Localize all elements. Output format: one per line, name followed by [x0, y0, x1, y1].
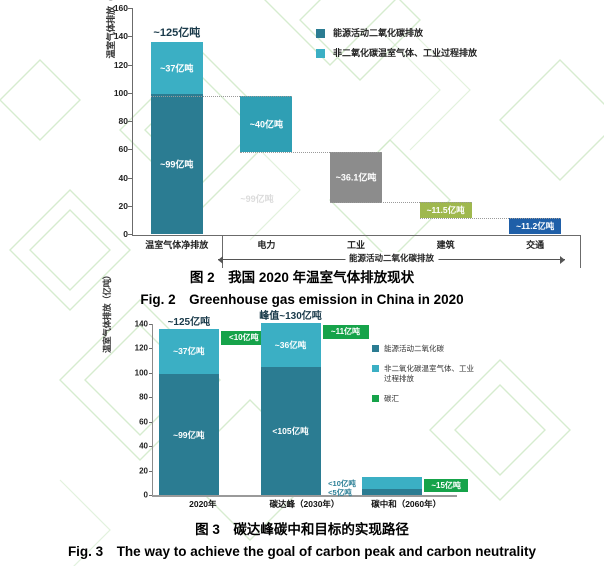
fig2-bracket-left-arrow-icon: [218, 256, 223, 264]
fig2-y-tickmark-100: [128, 93, 132, 94]
fig3-bar-value-label: <105亿吨: [261, 425, 321, 437]
fig3-bar-碳中和（2060年）-非二氧化碳温室气体、工业过程排放: [362, 477, 422, 489]
fig3-y-tickmark-0: [149, 495, 152, 496]
fig2-bar-value-label: ~11.2亿吨: [509, 220, 561, 232]
fig2-y-tick-100: 100: [114, 88, 128, 98]
fig3-y-tick-120: 120: [135, 344, 148, 353]
fig3-side-label: <5亿吨: [328, 487, 352, 498]
fig2-bracket-label: 能源活动二氧化碳排放: [345, 252, 438, 264]
fig2-category-交通: 交通: [490, 238, 580, 251]
fig3-legend-item-2: 碳汇: [372, 394, 479, 404]
fig2-y-tick-80: 80: [119, 116, 128, 126]
fig2-legend-label: 非二氧化碳温室气体、工业过程排放: [333, 48, 477, 59]
fig3-legend-swatch-icon: [372, 365, 379, 372]
fig3-bar-value-label: ~99亿吨: [159, 429, 219, 441]
fig2-y-tickmark-120: [128, 65, 132, 66]
fig2-connector-2: [330, 202, 472, 203]
fig3-y-tick-40: 40: [139, 442, 148, 451]
fig3-y-tick-80: 80: [139, 393, 148, 402]
fig2-y-tick-20: 20: [119, 201, 128, 211]
fig3-bar-value-label: ~36亿吨: [261, 339, 321, 351]
fig2-bracket-right-arrow-icon: [560, 256, 565, 264]
fig2-category-工业: 工业: [311, 238, 401, 251]
fig3-y-tickmark-100: [149, 373, 152, 374]
fig3-bar-value-label: ~37亿吨: [159, 345, 219, 357]
fig3-y-tick-0: 0: [144, 491, 148, 500]
figure-3-carbon-peak-neutrality-path: 温室气体排放（亿吨） 020406080100120140~99亿吨~37亿吨~…: [0, 312, 604, 512]
fig3-legend-label: 能源活动二氧化碳: [384, 344, 444, 354]
fig3-category-axis: 2020年碳达峰（2030年）碳中和（2060年）: [152, 498, 457, 514]
fig2-connector-0: [151, 96, 293, 97]
fig2-caption-cn: 图 2 我国 2020 年温室气体排放现状: [0, 266, 604, 286]
fig2-bar-value-label: ~99亿吨: [151, 158, 203, 171]
fig2-connector-1: [240, 152, 382, 153]
fig2-bar-工业-工业: ~36.1亿吨: [330, 152, 382, 203]
fig3-y-tickmark-120: [149, 348, 152, 349]
fig3-legend-label: 碳汇: [384, 394, 399, 404]
fig3-bar-碳达峰（2030年）-非二氧化碳温室气体、工业过程排放: ~36亿吨: [261, 323, 321, 367]
fig3-legend-swatch-icon: [372, 345, 379, 352]
fig3-bar-2020年-能源活动二氧化碳: ~99亿吨: [159, 374, 219, 495]
fig3-category-碳达峰（2030年）: 碳达峰（2030年）: [254, 498, 356, 510]
fig3-bar-2020年-非二氧化碳温室气体、工业过程排放: ~37亿吨: [159, 329, 219, 374]
fig3-caption-cn: 图 3 碳达峰碳中和目标的实现路径: [0, 518, 604, 538]
fig2-category-温室气体净排放: 温室气体净排放: [132, 238, 222, 251]
fig3-bar-碳达峰（2030年）-能源活动二氧化碳: <105亿吨: [261, 367, 321, 495]
fig2-bar-value-label: ~36.1亿吨: [330, 171, 382, 184]
fig2-bar-交通-交通: ~11.2亿吨: [509, 218, 561, 234]
fig3-legend-item-1: 非二氧化碳温室气体、工业过程排放: [372, 364, 479, 384]
fig3-y-tick-100: 100: [135, 368, 148, 377]
fig3-y-tickmark-60: [149, 422, 152, 423]
fig2-y-tick-40: 40: [119, 173, 128, 183]
fig2-bar-value-label: ~11.5亿吨: [420, 204, 472, 216]
fig2-ghost-label: ~99亿吨: [240, 192, 273, 205]
fig3-legend-swatch-icon: [372, 395, 379, 402]
fig3-y-axis-label: 温室气体排放（亿吨）: [101, 264, 115, 360]
fig3-caption-en: Fig. 3 The way to achieve the goal of ca…: [0, 540, 604, 560]
fig2-bar-温室气体净排放-能源活动二氧化碳排放: ~99亿吨: [151, 94, 203, 234]
fig2-connector-3: [420, 218, 562, 219]
fig2-bar-value-label: ~37亿吨: [151, 62, 203, 75]
fig3-carbon-sink-chip: ~11亿吨: [323, 325, 369, 339]
fig2-category-建筑: 建筑: [401, 238, 491, 251]
fig2-legend-swatch-icon: [316, 29, 325, 38]
figure-2-greenhouse-gas-emission: 温室气体排放（亿吨） 020406080100120140160~99亿吨~37…: [0, 0, 604, 262]
fig2-y-tickmark-160: [128, 8, 132, 9]
fig3-y-tickmark-80: [149, 397, 152, 398]
fig2-bar-温室气体净排放-非二氧化碳温室气体、工业过程排放: ~37亿吨: [151, 42, 203, 94]
fig3-bar-total-label: 峰值~130亿吨: [231, 307, 351, 322]
fig3-y-tickmark-40: [149, 446, 152, 447]
fig2-legend-item-0: 能源活动二氧化碳排放: [316, 28, 477, 39]
fig3-legend-label: 非二氧化碳温室气体、工业过程排放: [384, 364, 479, 384]
fig3-legend-item-0: 能源活动二氧化碳: [372, 344, 479, 354]
fig2-legend-label: 能源活动二氧化碳排放: [333, 28, 423, 39]
fig2-y-tickmark-60: [128, 149, 132, 150]
fig2-legend-swatch-icon: [316, 49, 325, 58]
fig2-bar-电力-电力: ~40亿吨: [240, 96, 292, 153]
fig2-y-tickmark-20: [128, 206, 132, 207]
fig2-y-tickmark-80: [128, 121, 132, 122]
fig3-legend: 能源活动二氧化碳非二氧化碳温室气体、工业过程排放碳汇: [372, 344, 479, 414]
fig2-y-tickmark-40: [128, 178, 132, 179]
fig2-y-tick-120: 120: [114, 60, 128, 70]
fig2-bar-total-label: ~125亿吨: [117, 24, 237, 40]
fig2-bar-建筑-建筑: ~11.5亿吨: [420, 202, 472, 218]
fig2-y-tick-160: 160: [114, 3, 128, 13]
fig2-category-电力: 电力: [222, 238, 312, 251]
fig3-category-2020年: 2020年: [152, 498, 254, 510]
fig2-category-separator-end: [580, 236, 581, 268]
fig3-y-tick-60: 60: [139, 417, 148, 426]
fig2-y-tick-60: 60: [119, 144, 128, 154]
fig2-caption-en: Fig. 2 Greenhouse gas emission in China …: [0, 288, 604, 308]
fig3-y-tickmark-20: [149, 471, 152, 472]
fig3-category-碳中和（2060年）: 碳中和（2060年）: [355, 498, 457, 510]
fig2-legend-item-1: 非二氧化碳温室气体、工业过程排放: [316, 48, 477, 59]
fig3-bar-碳中和（2060年）-能源活动二氧化碳: [362, 489, 422, 495]
fig2-bar-value-label: ~40亿吨: [240, 117, 292, 130]
fig3-carbon-sink-chip: ~15亿吨: [424, 479, 468, 492]
fig2-y-tickmark-0: [128, 234, 132, 235]
fig3-x-axis-line: [152, 495, 457, 497]
fig3-y-tick-20: 20: [139, 466, 148, 475]
fig2-legend: 能源活动二氧化碳排放非二氧化碳温室气体、工业过程排放: [316, 28, 477, 68]
